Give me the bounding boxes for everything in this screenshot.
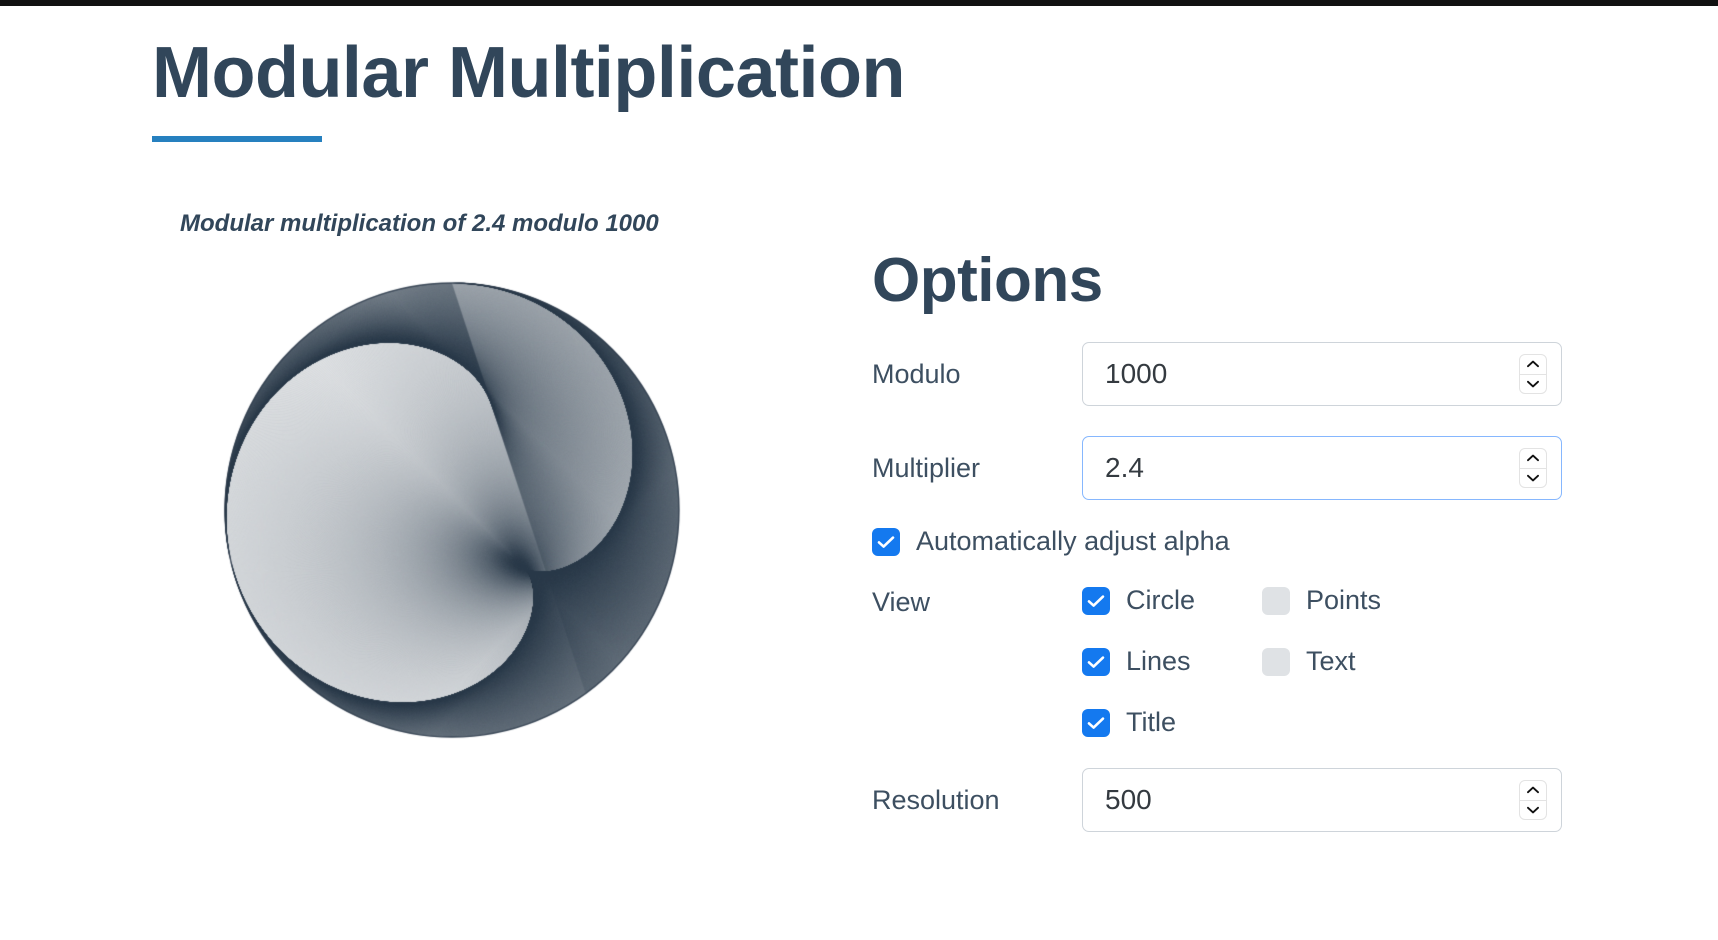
chevron-down-icon[interactable] [1520, 468, 1546, 488]
resolution-stepper[interactable] [1519, 780, 1547, 820]
text-label: Text [1306, 646, 1356, 677]
chevron-up-icon[interactable] [1520, 355, 1546, 374]
view-item-text[interactable]: Text [1262, 646, 1356, 677]
figure-canvas-wrap [152, 250, 752, 770]
modulo-row: Modulo 1000 [872, 342, 1572, 406]
chevron-down-icon[interactable] [1520, 374, 1546, 394]
auto-alpha-label: Automatically adjust alpha [916, 526, 1230, 557]
view-group: View Circle Points [872, 585, 1572, 738]
options-heading: Options [872, 250, 1572, 312]
chevron-up-icon[interactable] [1520, 781, 1546, 800]
lines-label: Lines [1126, 646, 1191, 677]
modulo-label: Modulo [872, 359, 1082, 390]
lines-checkbox[interactable] [1082, 648, 1110, 676]
points-checkbox[interactable] [1262, 587, 1290, 615]
title-underline-rule [152, 136, 322, 142]
resolution-row: Resolution 500 [872, 768, 1572, 832]
page-heading: Modular Multiplication [152, 36, 1152, 142]
title-checkbox[interactable] [1082, 709, 1110, 737]
chevron-down-icon[interactable] [1520, 800, 1546, 820]
circle-checkbox[interactable] [1082, 587, 1110, 615]
resolution-value: 500 [1083, 784, 1152, 816]
modular-multiplication-plot [152, 250, 752, 770]
title-label: Title [1126, 707, 1176, 738]
resolution-input[interactable]: 500 [1082, 768, 1562, 832]
auto-alpha-checkbox[interactable] [872, 528, 900, 556]
modulo-value: 1000 [1083, 358, 1167, 390]
view-group-label: View [872, 585, 1082, 738]
multiplier-value: 2.4 [1083, 452, 1144, 484]
view-item-points[interactable]: Points [1262, 585, 1381, 616]
auto-alpha-checkbox-row[interactable]: Automatically adjust alpha [872, 526, 1572, 557]
options-panel: Options Modulo 1000 Multiplier 2.4 [872, 250, 1572, 832]
text-checkbox[interactable] [1262, 648, 1290, 676]
view-item-title[interactable]: Title [1082, 707, 1262, 738]
multiplier-stepper[interactable] [1519, 448, 1547, 488]
multiplier-input[interactable]: 2.4 [1082, 436, 1562, 500]
modulo-input[interactable]: 1000 [1082, 342, 1562, 406]
points-label: Points [1306, 585, 1381, 616]
multiplier-label: Multiplier [872, 453, 1082, 484]
view-item-circle[interactable]: Circle [1082, 585, 1262, 616]
circle-label: Circle [1126, 585, 1195, 616]
figure-title: Modular multiplication of 2.4 modulo 100… [180, 210, 832, 238]
view-row-1: Circle Points [1082, 585, 1381, 616]
chevron-up-icon[interactable] [1520, 449, 1546, 468]
page-title: Modular Multiplication [152, 36, 1152, 112]
view-checkbox-grid: Circle Points Lines Text [1082, 585, 1381, 738]
multiplier-row: Multiplier 2.4 [872, 436, 1572, 500]
figure-panel: Modular multiplication of 2.4 modulo 100… [152, 210, 832, 810]
modulo-stepper[interactable] [1519, 354, 1547, 394]
view-item-lines[interactable]: Lines [1082, 646, 1262, 677]
view-row-3: Title [1082, 707, 1381, 738]
resolution-label: Resolution [872, 785, 1082, 816]
view-row-2: Lines Text [1082, 646, 1381, 677]
top-black-bar [0, 0, 1718, 6]
